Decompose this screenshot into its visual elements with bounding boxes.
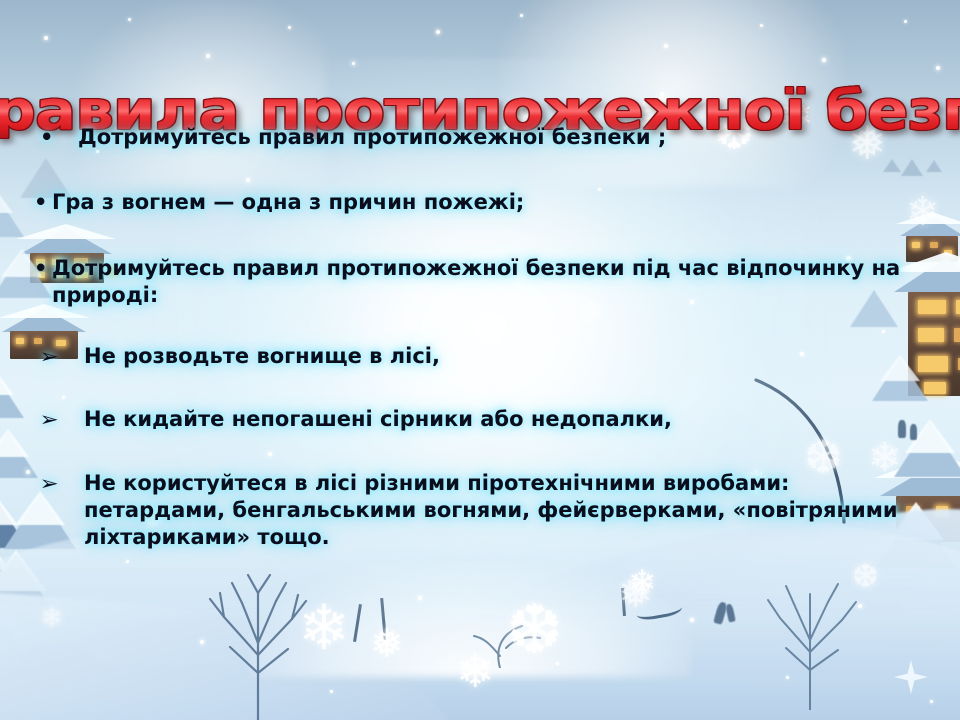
bullet-marker-arrow-icon: ➢ xyxy=(30,470,88,496)
list-item-text: Гра з вогнем — одна з причин пожежі; xyxy=(52,189,930,216)
bullet-marker-arrow-icon: ➢ xyxy=(30,406,88,432)
list-item: • Дотримуйтесь правил протипожежної безп… xyxy=(34,255,930,310)
list-item: ➢ Не розводьте вогнище в лісі, xyxy=(34,343,930,370)
list-item-text: Не кидайте непогашені сірники або недопа… xyxy=(84,406,930,433)
bullet-marker-disc: • xyxy=(34,124,78,151)
list-item-text: Дотримуйтесь правил протипожежної безпек… xyxy=(52,255,930,310)
list-item: • Гра з вогнем — одна з причин пожежі; xyxy=(34,189,930,216)
list-item: ➢ Не кидайте непогашені сірники або недо… xyxy=(34,406,930,433)
slide: ❄ ❅ ❄ ❆ ❄ ❅ ❄ ❆ ❄ ❅ ❄ ❅ ❄ ❅ ❆ ❄ ❅ ❄ ❆ ❄ xyxy=(0,0,960,720)
list-item: ➢ Не користуйтеся в лісі різними піротех… xyxy=(34,470,930,552)
bullet-marker-arrow-icon: ➢ xyxy=(30,343,88,369)
bullet-list: • Дотримуйтесь правил протипожежної безп… xyxy=(34,124,930,552)
bullet-marker-disc: • xyxy=(34,255,52,282)
list-item-text: Не користуйтеся в лісі різними піротехні… xyxy=(84,470,930,552)
bullet-marker-disc: • xyxy=(34,189,52,216)
list-item-text: Не розводьте вогнище в лісі, xyxy=(84,343,930,370)
slide-content: Правила протипожежної безпеки • Дотримуй… xyxy=(0,0,960,720)
list-item: • Дотримуйтесь правил протипожежної безп… xyxy=(34,124,930,151)
list-item-text: Дотримуйтесь правил протипожежної безпек… xyxy=(78,124,930,151)
